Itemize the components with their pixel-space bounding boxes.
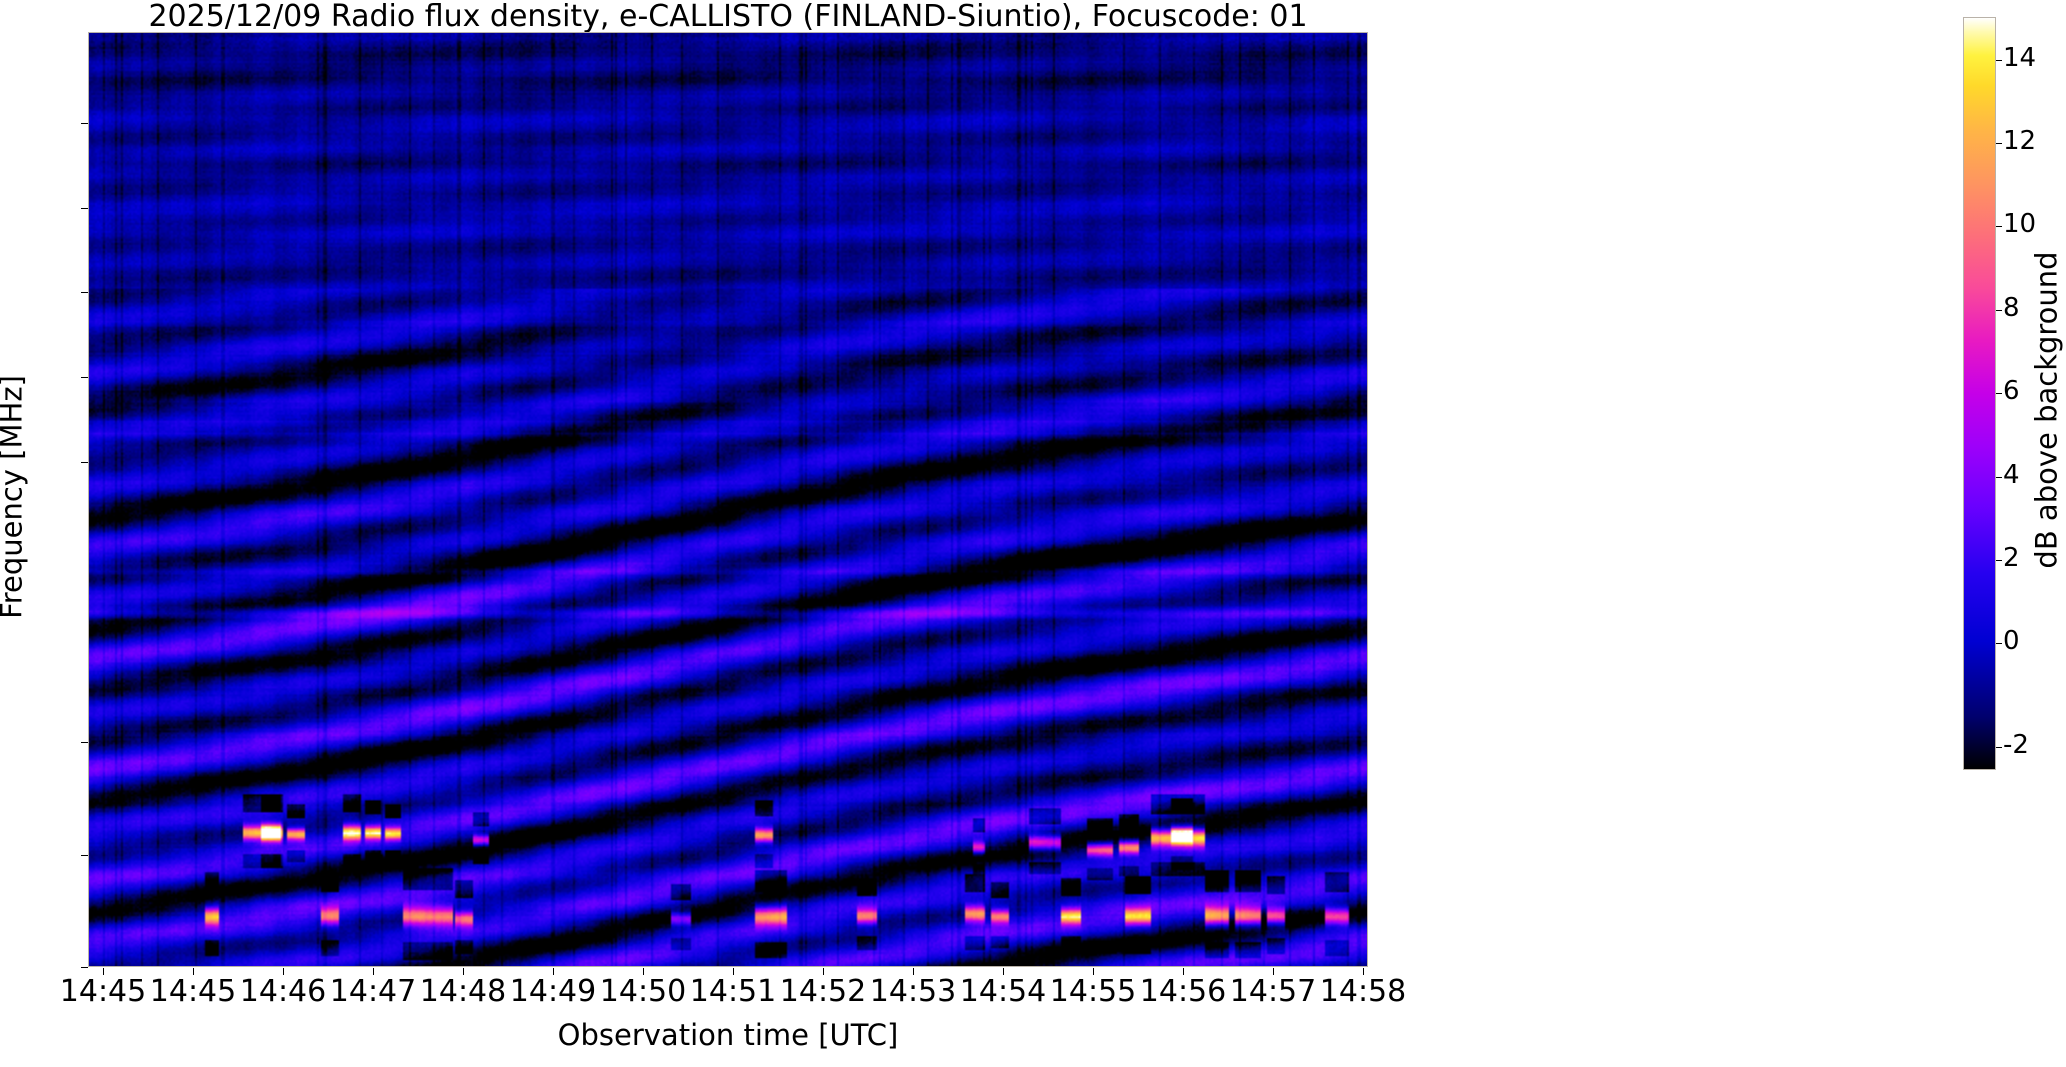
x-tick-mark bbox=[1363, 968, 1364, 975]
y-axis-label: Frequency [MHz] bbox=[0, 30, 29, 965]
colorbar-tick-mark bbox=[1996, 747, 2002, 748]
colorbar-gradient[interactable] bbox=[1963, 17, 1996, 770]
colorbar-tick-mark bbox=[1996, 60, 2002, 61]
spectrogram-figure: 2025/12/09 Radio flux density, e-CALLIST… bbox=[0, 0, 2066, 1067]
y-tick-mark bbox=[81, 967, 88, 968]
y-tick-mark bbox=[81, 377, 88, 378]
colorbar-tick-mark bbox=[1996, 643, 2002, 644]
colorbar-tick-mark bbox=[1996, 226, 2002, 227]
colorbar-tick-mark bbox=[1996, 143, 2002, 144]
y-tick-mark bbox=[81, 462, 88, 463]
y-tick-mark bbox=[81, 855, 88, 856]
colorbar-label: dB above background bbox=[2030, 34, 2064, 787]
x-tick-label: 14:58 bbox=[1253, 974, 1473, 1009]
y-tick-mark bbox=[81, 742, 88, 743]
colorbar-tick-mark bbox=[1996, 477, 2002, 478]
x-axis-label: Observation time [UTC] bbox=[88, 1018, 1368, 1052]
y-tick-mark bbox=[81, 292, 88, 293]
y-tick-mark bbox=[81, 208, 88, 209]
y-tick-mark bbox=[81, 123, 88, 124]
spectrogram-image bbox=[89, 33, 1368, 967]
spectrogram-plot-area[interactable] bbox=[88, 32, 1368, 967]
colorbar-tick-mark bbox=[1996, 393, 2002, 394]
colorbar-tick-mark bbox=[1996, 560, 2002, 561]
page-title: 2025/12/09 Radio flux density, e-CALLIST… bbox=[88, 2, 1368, 32]
colorbar-tick-mark bbox=[1996, 310, 2002, 311]
